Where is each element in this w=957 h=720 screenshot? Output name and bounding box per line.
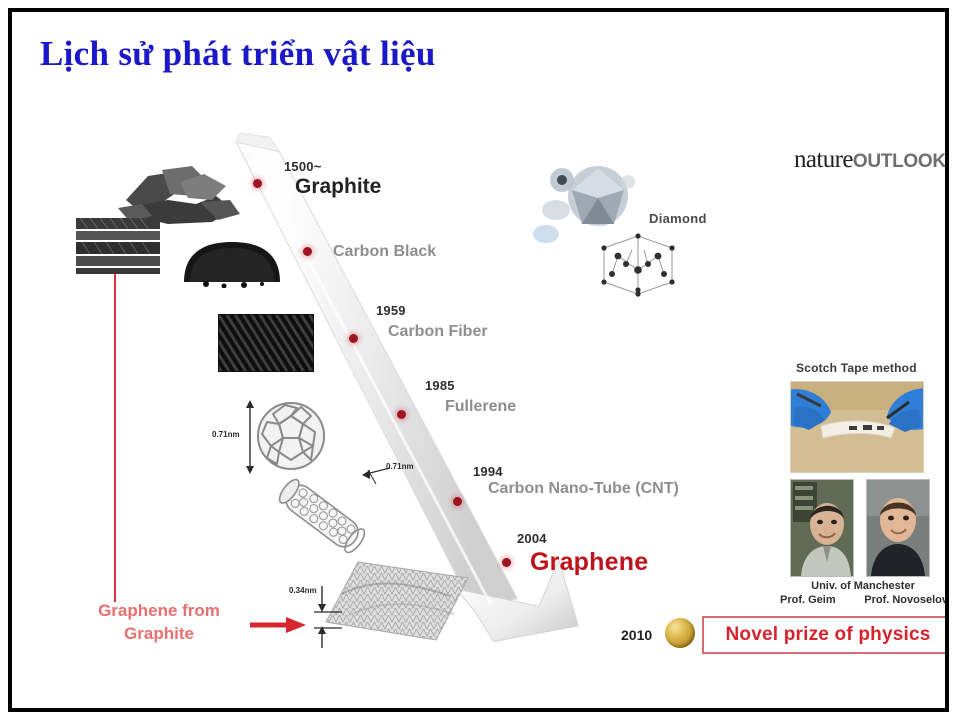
callout-line-1: Graphene from [74,600,244,623]
nobel-year-label: 2010 [621,627,652,643]
milestone-year-graphite: 1500~ [284,159,322,174]
milestone-year-fullerene: 1985 [425,378,455,393]
timeline-dot-cnt [453,497,462,506]
carbon-fiber-weave-photo [218,314,314,372]
nature-wordmark: nature [794,146,853,173]
diamond-crystal-lattice-diagram [592,230,682,300]
right-arrow-icon [250,616,308,634]
prof-geim-photo [790,479,854,577]
scotch-tape-caption: Scotch Tape method [796,361,917,375]
milestone-name-fullerene: Fullerene [445,398,516,416]
university-label: Univ. of Manchester [788,580,938,592]
gold-medal-icon [665,618,695,648]
page-title: Lịch sử phát triển vật liệu [40,34,436,74]
timeline-dot-carbon-fiber [349,334,358,343]
milestone-name-graphite: Graphite [295,175,381,199]
milestone-year-carbon-fiber: 1959 [376,303,406,318]
layered-graphite-photo [74,214,162,276]
timeline-dot-graphene [502,558,511,567]
timeline-dot-carbon-black [303,247,312,256]
graphene-from-graphite-callout: Graphene from Graphite [74,600,244,646]
timeline-dot-graphite [253,179,262,188]
prof-novoselov-photo [866,479,930,577]
timeline-dot-fullerene [397,410,406,419]
outlook-wordmark: OUTLOOK [853,151,946,172]
graphite-connector-line [114,274,116,602]
diamond-label: Diamond [649,211,707,226]
carbon-black-powder-photo [178,238,286,288]
milestone-name-cnt: Carbon Nano-Tube (CNT) [488,480,679,498]
scotch-tape-method-photo [790,381,924,473]
nobel-prize-label: Novel prize of physics [725,624,930,646]
slide-frame: Lịch sử phát triển vật liệu [8,8,949,712]
milestone-name-carbon-black: Carbon Black [333,243,436,261]
fullerene-buckyball-diagram [255,400,327,472]
fullerene-dimension-arrow [244,400,256,474]
callout-line-2: Graphite [74,623,244,646]
professors-photos [790,479,932,579]
milestone-name-graphene: Graphene [530,548,648,577]
cnt-dimension-arrow [362,460,392,486]
milestone-year-cnt: 1994 [473,464,503,479]
nobel-prize-box: Novel prize of physics [702,616,949,654]
nature-outlook-logo: natureOUTLOOK [794,146,946,174]
graphene-spacing-arrow [312,582,346,650]
slide-canvas: Lịch sử phát triển vật liệu [0,0,957,720]
prof-geim-label: Prof. Geim [780,594,836,606]
professor-names: Prof. Geim Prof. Novoselov [780,594,948,606]
fullerene-dimension-label: 0.71nm [212,430,240,439]
prof-novoselov-label: Prof. Novoselov [864,594,948,606]
milestone-name-carbon-fiber: Carbon Fiber [388,323,488,341]
milestone-year-graphene: 2004 [517,531,547,546]
